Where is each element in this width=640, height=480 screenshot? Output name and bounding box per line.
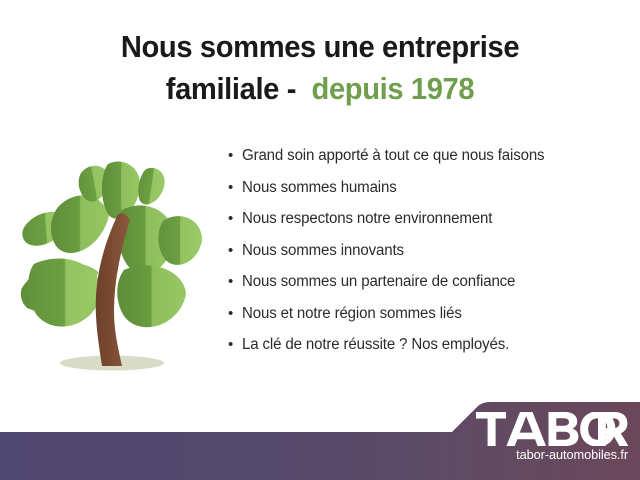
- bullet-marker-icon: •: [228, 306, 242, 321]
- brand-logo-wordmark-svg: [476, 412, 628, 446]
- page-title-dash: -: [287, 71, 296, 106]
- bullet-marker-icon: •: [228, 243, 242, 258]
- page-title: Nous sommes une entreprise familiale - d…: [19, 26, 621, 111]
- list-item-label: Nous sommes humains: [242, 180, 622, 195]
- page-title-line-2-prefix: familiale: [166, 71, 279, 106]
- list-item-label: Nous sommes un partenaire de confiance: [242, 274, 622, 289]
- bullet-marker-icon: •: [228, 211, 242, 226]
- list-item: • Nous sommes innovants: [228, 243, 628, 275]
- list-item: • Nous sommes un partenaire de confiance: [228, 274, 628, 306]
- list-item: • Nous respectons notre environnement: [228, 211, 628, 243]
- page-title-line-2: familiale - depuis 1978: [19, 68, 621, 110]
- brand-logo-url[interactable]: tabor-automobiles.fr: [473, 447, 628, 462]
- page-title-accent: depuis 1978: [312, 71, 475, 106]
- list-item: • La clé de notre réussite ? Nos employé…: [228, 337, 628, 369]
- list-item-label: Nous respectons notre environnement: [242, 211, 622, 226]
- list-item-label: Grand soin apporté à tout ce que nous fa…: [242, 148, 622, 163]
- bullet-marker-icon: •: [228, 148, 242, 163]
- bullet-marker-icon: •: [228, 274, 242, 289]
- list-item-label: Nous et notre région sommes liés: [242, 306, 622, 321]
- brand-logo-wordmark: [468, 412, 628, 446]
- list-item-label: La clé de notre réussite ? Nos employés.: [242, 337, 622, 352]
- list-item: • Nous et notre région sommes liés: [228, 306, 628, 338]
- feature-bullet-list: • Grand soin apporté à tout ce que nous …: [228, 148, 628, 369]
- bullet-marker-icon: •: [228, 180, 242, 195]
- tree-illustration: [12, 158, 207, 380]
- page-title-line-1: Nous sommes une entreprise: [19, 26, 621, 68]
- list-item-label: Nous sommes innovants: [242, 243, 622, 258]
- slide-canvas: Nous sommes une entreprise familiale - d…: [0, 0, 640, 480]
- list-item: • Grand soin apporté à tout ce que nous …: [228, 148, 628, 180]
- tree-illustration-svg: [12, 158, 207, 380]
- brand-logo[interactable]: tabor-automobiles.fr: [468, 412, 628, 462]
- list-item: • Nous sommes humains: [228, 180, 628, 212]
- bullet-marker-icon: •: [228, 337, 242, 352]
